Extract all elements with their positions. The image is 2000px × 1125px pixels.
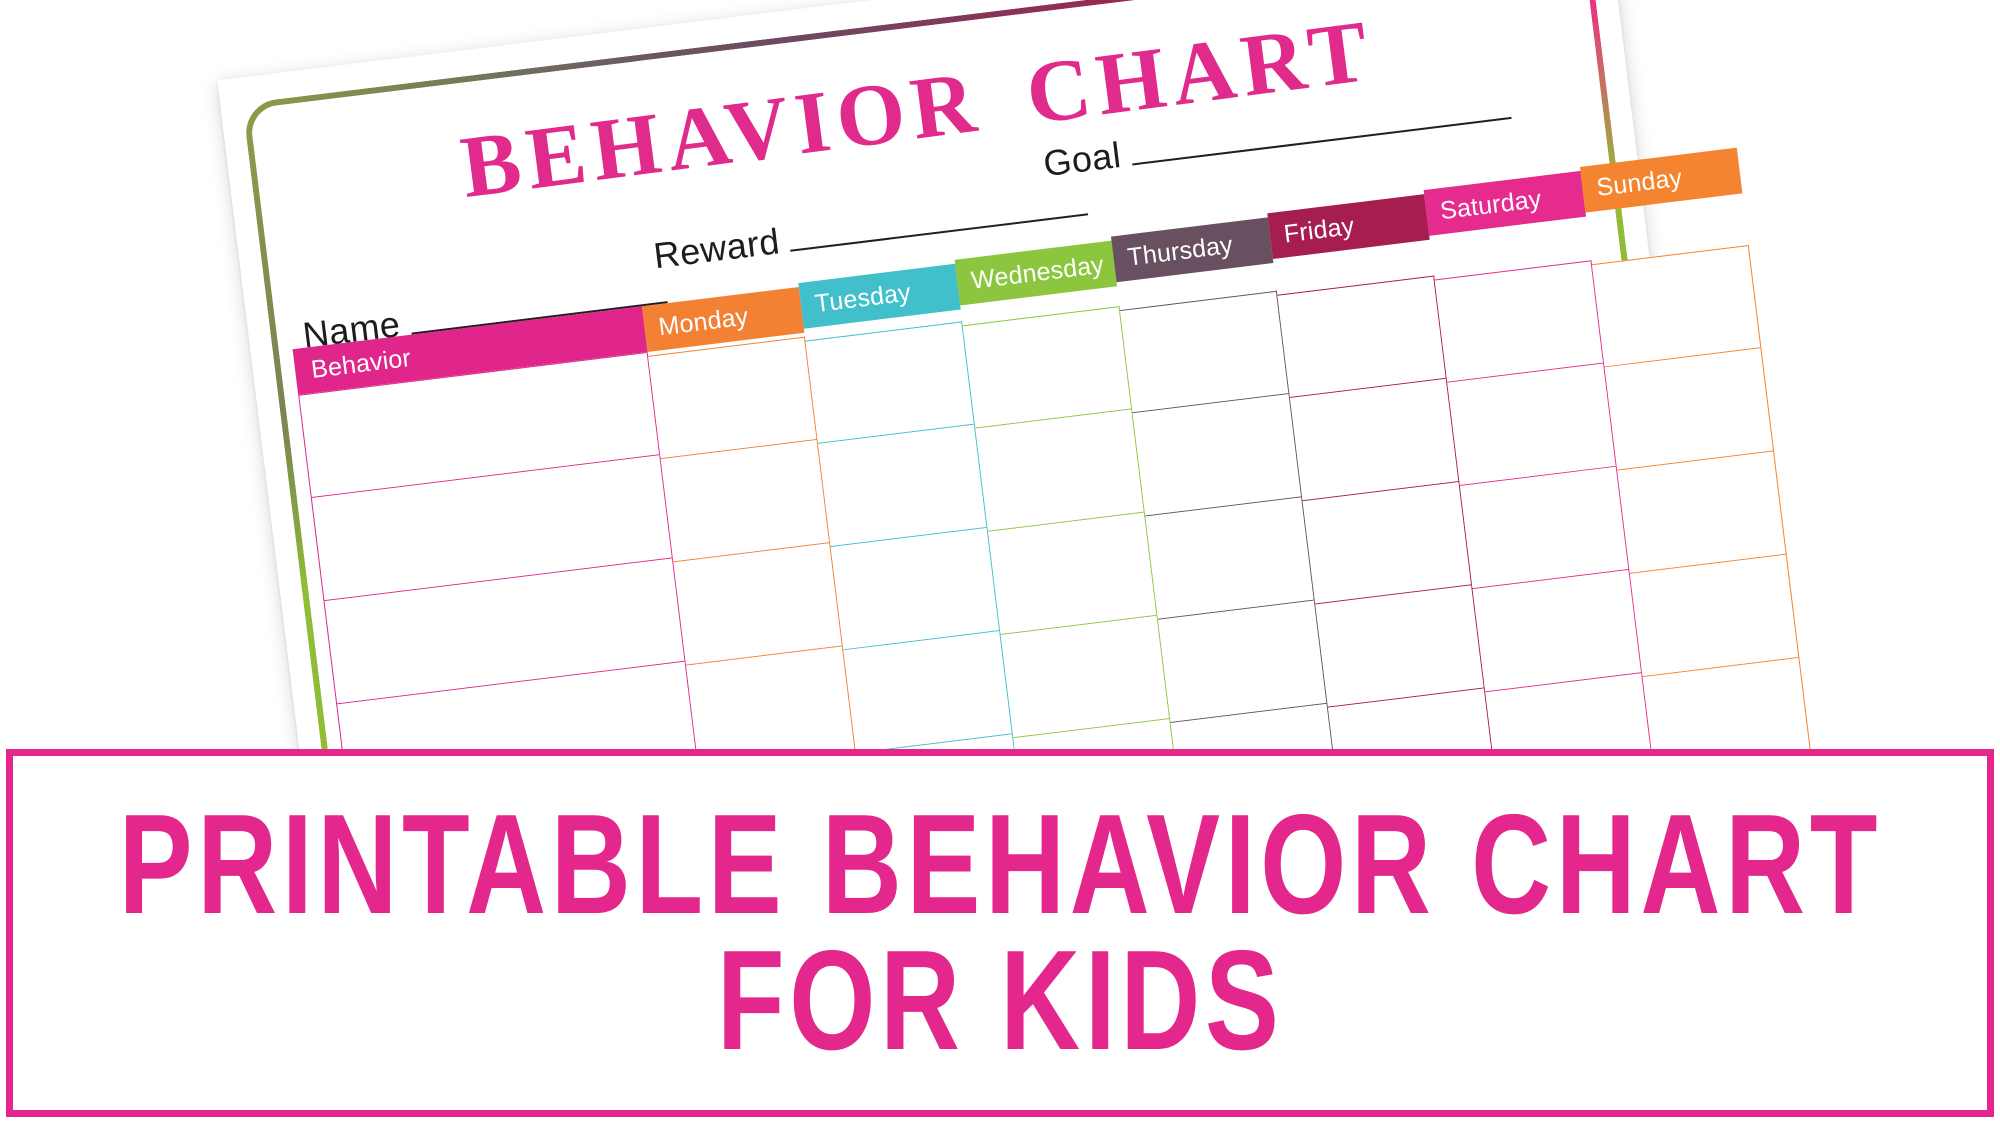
day-cell[interactable] — [1617, 451, 1786, 573]
title-banner: PRINTABLE BEHAVIOR CHART FOR KIDS — [6, 749, 1994, 1117]
day-cell[interactable] — [831, 528, 1000, 650]
day-cell[interactable] — [1473, 570, 1642, 692]
day-cell[interactable] — [1133, 394, 1302, 516]
day-cell[interactable] — [648, 337, 817, 459]
day-cell[interactable] — [1158, 600, 1327, 722]
day-cell[interactable] — [843, 631, 1012, 753]
day-cell[interactable] — [661, 440, 830, 562]
day-cell[interactable] — [1315, 585, 1484, 707]
day-cell[interactable] — [988, 513, 1157, 635]
day-cell[interactable] — [805, 321, 974, 443]
day-cell[interactable] — [1605, 348, 1774, 470]
day-cell[interactable] — [1120, 291, 1289, 413]
banner-line-1: PRINTABLE BEHAVIOR CHART — [118, 797, 1881, 933]
day-cell[interactable] — [1435, 260, 1604, 382]
page-root: BEHAVIORCHART Name Reward Goal BehaviorM… — [0, 0, 2000, 1125]
day-cell[interactable] — [1277, 276, 1446, 398]
day-cell[interactable] — [818, 425, 987, 547]
day-cell[interactable] — [1001, 616, 1170, 738]
day-cell[interactable] — [1303, 482, 1472, 604]
day-cell[interactable] — [963, 306, 1132, 428]
day-cell[interactable] — [1630, 555, 1799, 677]
day-cell[interactable] — [1290, 379, 1459, 501]
goal-field-label: Goal — [1041, 137, 1122, 182]
day-cell[interactable] — [1145, 497, 1314, 619]
day-cell[interactable] — [673, 543, 842, 665]
day-cell[interactable] — [1592, 245, 1761, 367]
banner-line-2: FOR KIDS — [717, 933, 1284, 1069]
day-cell[interactable] — [1447, 363, 1616, 485]
day-cell[interactable] — [1460, 467, 1629, 589]
day-cell[interactable] — [975, 409, 1144, 531]
